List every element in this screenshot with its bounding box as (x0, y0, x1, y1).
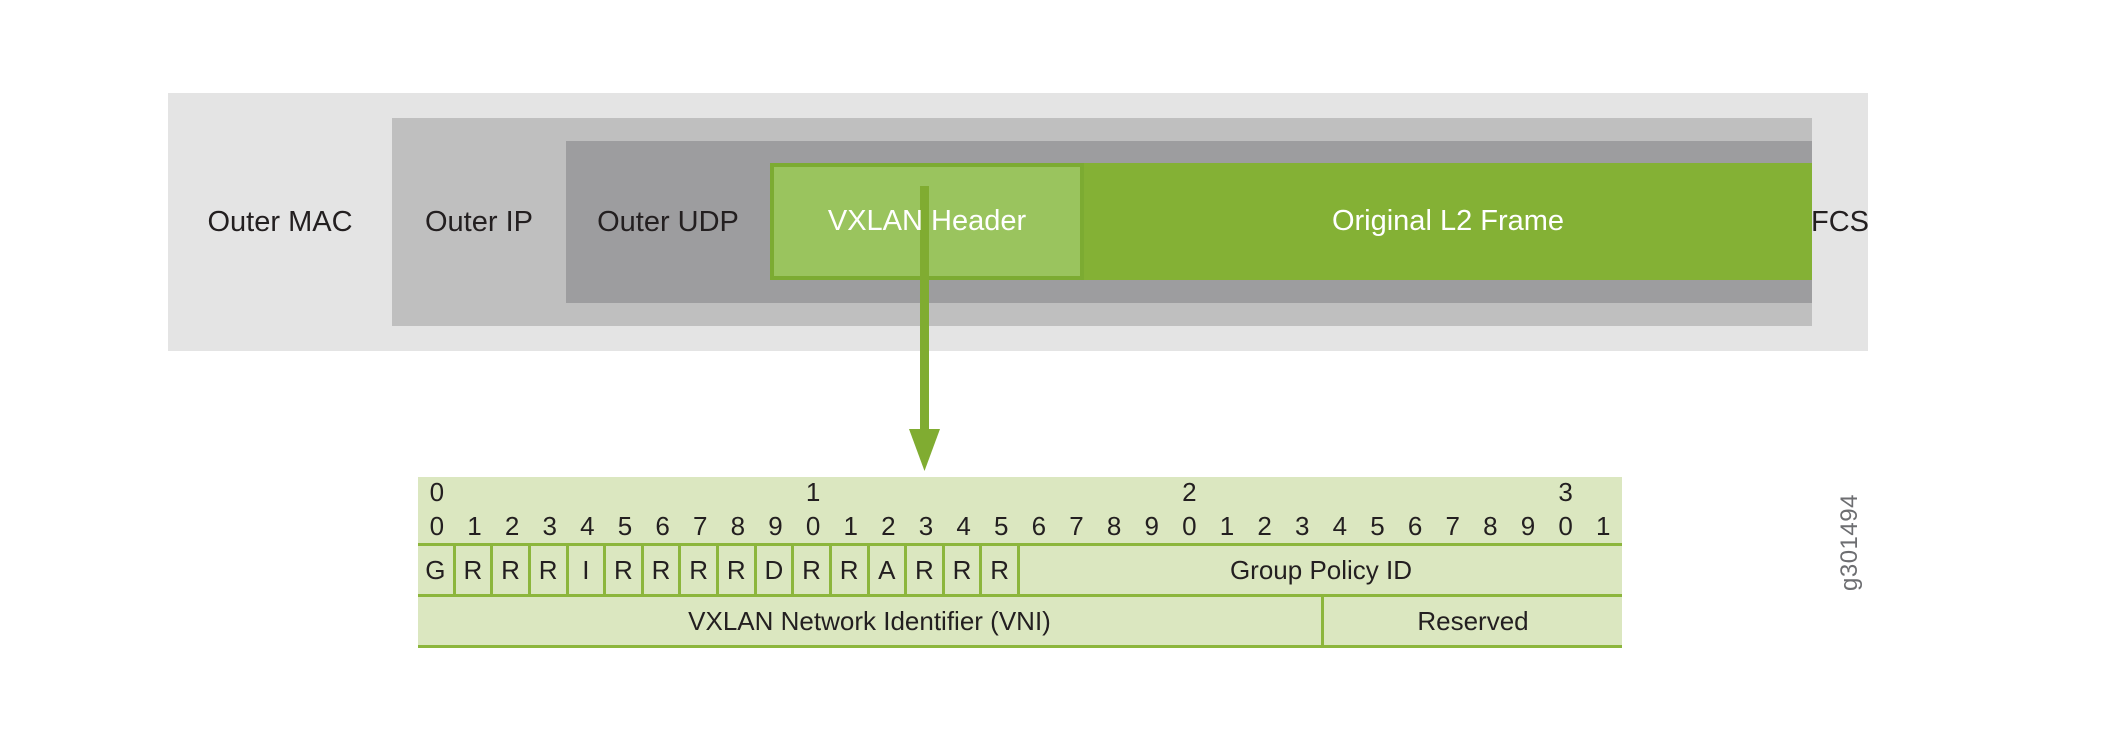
bit-ruler-ones-cell: 4 (569, 510, 607, 543)
bit-ruler-tens-cell (719, 477, 757, 510)
bit-ruler-ones-cell: 0 (418, 510, 456, 543)
label-vxlan-header: VXLAN Header (770, 163, 1084, 280)
bit-ruler-tens-cell (1472, 477, 1510, 510)
flag-bit-cell: R (832, 546, 870, 594)
bit-ruler-tens-cell: 2 (1171, 477, 1209, 510)
field-group-policy-id: Group Policy ID (1020, 546, 1622, 594)
bit-ruler-tens-cell (531, 477, 569, 510)
flag-bit-cell: R (493, 546, 531, 594)
bit-ruler-tens-cell (757, 477, 795, 510)
bit-ruler-tens-cell (606, 477, 644, 510)
bit-ruler-tens-cell (456, 477, 494, 510)
label-outer-ip: Outer IP (392, 118, 566, 326)
bit-ruler-tens-cell: 1 (794, 477, 832, 510)
bit-ruler-tens-cell (945, 477, 983, 510)
bit-ruler-ones-cell: 5 (1359, 510, 1397, 543)
bit-ruler-tens-cell (1095, 477, 1133, 510)
bit-ruler-ones-cell: 2 (1246, 510, 1284, 543)
bit-ruler-ones-cell: 0 (794, 510, 832, 543)
bit-ruler-ones-cell: 4 (1321, 510, 1359, 543)
bit-ruler-ones-cell: 1 (1584, 510, 1622, 543)
bit-ruler-tens-cell (1058, 477, 1096, 510)
bit-ruler-tens-row: 0123 (418, 477, 1622, 510)
bit-ruler-tens-cell (982, 477, 1020, 510)
flag-bit-cell: R (531, 546, 569, 594)
bit-ruler-ones-cell: 9 (1133, 510, 1171, 543)
bit-ruler-ones-cell: 3 (1283, 510, 1321, 543)
flag-bit-cell: R (945, 546, 983, 594)
bit-ruler-ones-cell: 7 (1058, 510, 1096, 543)
bit-ruler-ones-cell: 8 (1095, 510, 1133, 543)
field-reserved: Reserved (1321, 597, 1622, 645)
bit-ruler-tens-cell (1359, 477, 1397, 510)
flag-bit-cell: D (757, 546, 795, 594)
bit-ruler-ones-cell: 1 (1208, 510, 1246, 543)
bit-ruler-tens-cell (1208, 477, 1246, 510)
bit-ruler-tens-cell: 3 (1547, 477, 1585, 510)
bit-ruler-ones-cell: 7 (681, 510, 719, 543)
bit-ruler-ones-cell: 8 (719, 510, 757, 543)
bit-ruler-ones-cell: 6 (1396, 510, 1434, 543)
flag-bit-cell: R (681, 546, 719, 594)
flag-bit-cell: R (606, 546, 644, 594)
packet-encapsulation-stack: Outer MAC Outer IP Outer UDP VXLAN Heade… (168, 93, 1868, 351)
bit-ruler-tens-cell (1020, 477, 1058, 510)
bit-ruler-tens-cell (1283, 477, 1321, 510)
flag-bit-cell: R (982, 546, 1020, 594)
bit-ruler-tens-cell (1321, 477, 1359, 510)
bit-ruler-tens-cell (870, 477, 908, 510)
bit-ruler-tens-cell (681, 477, 719, 510)
bit-ruler-ones-cell: 1 (456, 510, 494, 543)
flag-bit-cell: R (456, 546, 494, 594)
flag-bit-cell: R (719, 546, 757, 594)
label-original-l2-frame: Original L2 Frame (1084, 163, 1812, 280)
flag-bit-cell: R (644, 546, 682, 594)
bit-ruler-ones-cell: 1 (832, 510, 870, 543)
flag-bit-cell: R (907, 546, 945, 594)
bit-ruler-ones-cell: 5 (606, 510, 644, 543)
header-row-flags-and-group-policy: GRRRIRRRRDRRARRR Group Policy ID (418, 543, 1622, 597)
diagram-canvas: Outer MAC Outer IP Outer UDP VXLAN Heade… (0, 0, 2101, 751)
bit-ruler-ones-cell: 2 (870, 510, 908, 543)
bit-ruler-tens-cell (1509, 477, 1547, 510)
bit-ruler-ones-cell: 2 (493, 510, 531, 543)
bit-ruler-tens-cell (493, 477, 531, 510)
label-outer-udp: Outer UDP (566, 141, 770, 303)
bit-ruler-ones-cell: 6 (1020, 510, 1058, 543)
bit-ruler-ones-cell: 9 (1509, 510, 1547, 543)
bit-ruler-ones-cell: 9 (757, 510, 795, 543)
bit-ruler-tens-cell (1246, 477, 1284, 510)
bit-ruler-tens-cell (569, 477, 607, 510)
bit-ruler-ones-cell: 4 (945, 510, 983, 543)
bit-ruler-ones-cell: 5 (982, 510, 1020, 543)
vxlan-header-bit-table: 0123 01234567890123456789012345678901 GR… (418, 477, 1622, 648)
bit-ruler-tens-cell (644, 477, 682, 510)
bit-ruler-ones-row: 01234567890123456789012345678901 (418, 510, 1622, 543)
field-vxlan-network-identifier: VXLAN Network Identifier (VNI) (418, 597, 1321, 645)
bit-ruler-ones-cell: 7 (1434, 510, 1472, 543)
figure-id-watermark: g301494 (1836, 494, 1864, 591)
bit-ruler-tens-cell (832, 477, 870, 510)
bit-ruler-ones-cell: 8 (1472, 510, 1510, 543)
bit-ruler-ones-cell: 0 (1547, 510, 1585, 543)
label-fcs: FCS (1812, 93, 1868, 351)
bit-ruler-tens-cell (907, 477, 945, 510)
bit-ruler-ones-cell: 3 (531, 510, 569, 543)
flag-bit-cell: R (794, 546, 832, 594)
bit-ruler-ones-cell: 6 (644, 510, 682, 543)
header-row-vni-and-reserved: VXLAN Network Identifier (VNI) Reserved (418, 597, 1622, 648)
bit-ruler-tens-cell (1396, 477, 1434, 510)
bit-ruler-ones-cell: 0 (1171, 510, 1209, 543)
bit-ruler-tens-cell (1434, 477, 1472, 510)
bit-ruler-tens-cell: 0 (418, 477, 456, 510)
flag-bit-cell: A (870, 546, 908, 594)
bit-ruler-tens-cell (1584, 477, 1622, 510)
bit-ruler-tens-cell (1133, 477, 1171, 510)
flag-bit-cell: G (418, 546, 456, 594)
flag-bit-cell: I (569, 546, 607, 594)
label-outer-mac: Outer MAC (168, 93, 392, 351)
bit-ruler-ones-cell: 3 (907, 510, 945, 543)
